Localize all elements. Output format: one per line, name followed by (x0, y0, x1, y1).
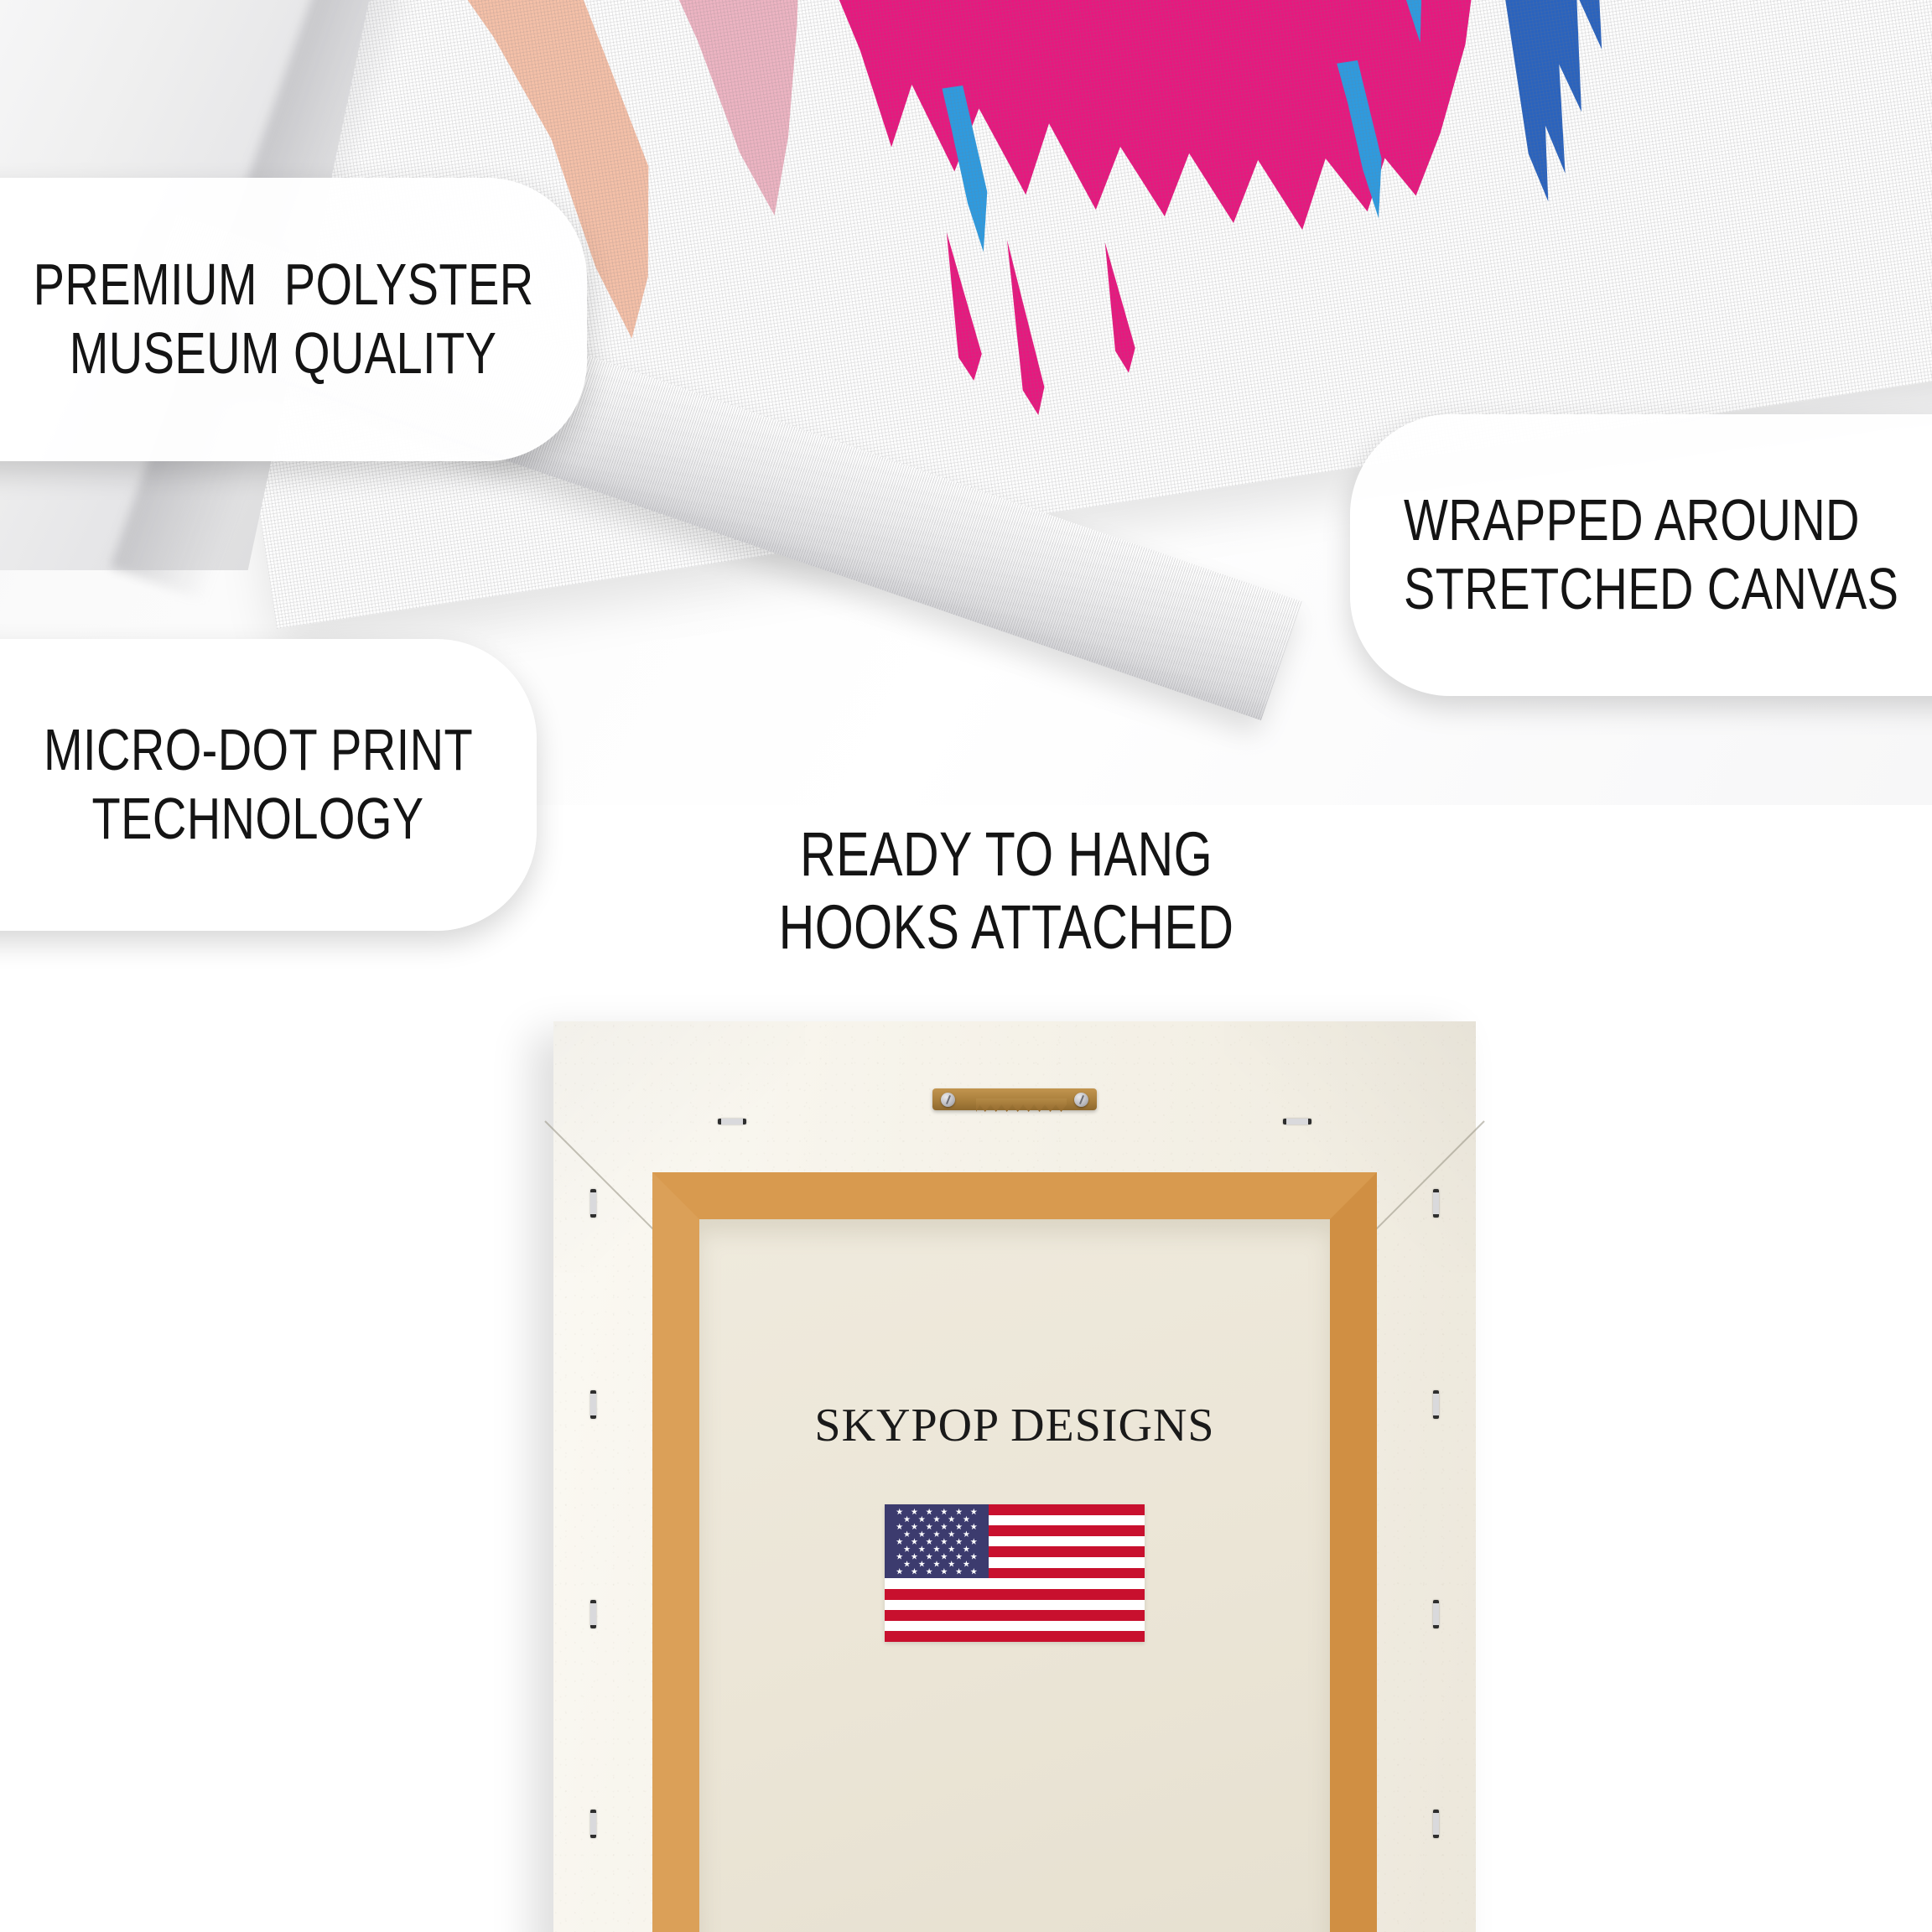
callout-premium-line1: PREMIUM POLYSTER (34, 251, 534, 319)
staple-right-3 (1433, 1600, 1439, 1628)
staple-left-2 (590, 1390, 596, 1419)
callout-micro-dot-print: MICRO-DOT PRINT TECHNOLOGY (0, 639, 537, 931)
flag-stars (885, 1504, 989, 1579)
staple-left-1 (590, 1189, 596, 1218)
flag-stripe-7 (885, 1631, 1145, 1642)
staple-right-1 (1433, 1189, 1439, 1218)
infographic-stage: PREMIUM POLYSTER MUSEUM QUALITY MICRO-DO… (0, 0, 1932, 1932)
sawtooth-hanger (932, 1082, 1097, 1115)
canvas-back-inner-field: SKYPOP DESIGNS (699, 1219, 1330, 1932)
heading-line2: HOOKS ATTACHED (671, 891, 1342, 963)
us-flag (885, 1504, 1145, 1642)
callout-premium-polyster: PREMIUM POLYSTER MUSEUM QUALITY (0, 178, 587, 461)
callout-micro-line1: MICRO-DOT PRINT (44, 716, 473, 785)
staple-top-right (1283, 1119, 1311, 1124)
hanger-screw-right (1074, 1093, 1088, 1107)
hanger-screw-left (941, 1093, 955, 1107)
heading-line1: READY TO HANG (671, 818, 1342, 891)
callout-micro-line2: TECHNOLOGY (92, 785, 424, 854)
callout-wrapped-line2: STRETCHED CANVAS (1404, 555, 1898, 624)
flag-stripe-6 (885, 1610, 1145, 1621)
canvas-back-body: SKYPOP DESIGNS (553, 1021, 1476, 1932)
callout-premium-line2: MUSEUM QUALITY (70, 319, 497, 388)
flag-canton (885, 1504, 989, 1578)
staple-right-2 (1433, 1390, 1439, 1419)
callout-wrapped-line1: WRAPPED AROUND (1404, 486, 1860, 555)
flag-stripe-5 (885, 1589, 1145, 1600)
callout-wrapped-around: WRAPPED AROUND STRETCHED CANVAS (1350, 414, 1932, 696)
staple-left-4 (590, 1810, 596, 1838)
staple-left-3 (590, 1600, 596, 1628)
staple-right-4 (1433, 1810, 1439, 1838)
canvas-back-photo: SKYPOP DESIGNS (0, 989, 1932, 1932)
brand-name: SKYPOP DESIGNS (699, 1399, 1330, 1452)
staple-top-left (718, 1119, 746, 1124)
ready-to-hang-heading: READY TO HANG HOOKS ATTACHED (587, 818, 1426, 964)
